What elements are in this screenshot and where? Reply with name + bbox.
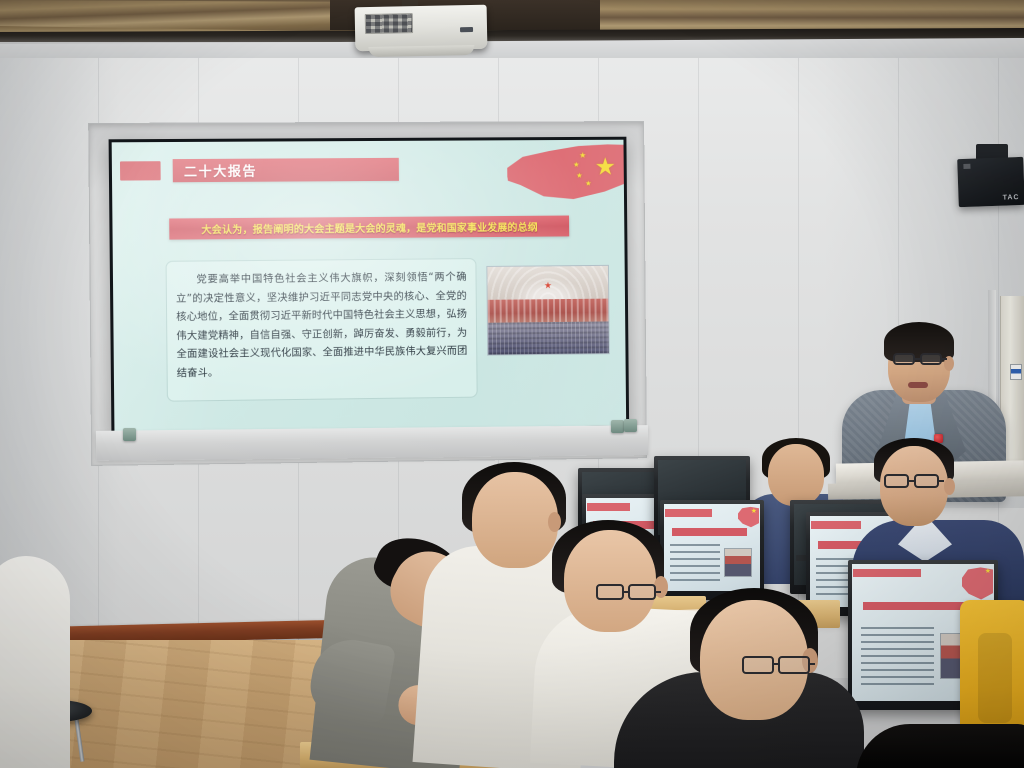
ledge-object [611, 420, 624, 433]
slide-title-bar: 二十大报告 [173, 158, 399, 182]
cabinet-sign-icon [1010, 364, 1022, 380]
slide-photo-great-hall: ★ [486, 265, 609, 356]
wall-speaker: TAC [957, 157, 1024, 207]
ledge-object [123, 428, 136, 441]
slide-title: 二十大报告 [184, 161, 257, 181]
slide-body-text: 党要高举中国特色社会主义伟大旗帜，深刻领悟“两个确立”的决定性意义，坚决维护习近… [176, 269, 468, 384]
speaker-port-icon [963, 164, 970, 169]
projector-vent-icon [365, 13, 413, 34]
glasses-icon [628, 584, 656, 600]
chinese-flag-icon: ★ ★ ★ ★ ★ [507, 140, 624, 218]
glasses-icon [920, 353, 942, 365]
projection-screen[interactable]: ★ ★ ★ ★ ★ 二十大报告 大会认为，报告阐明的大会主题是大会的灵魂，是党和… [109, 137, 630, 436]
slide-body-textbox: 党要高举中国特色社会主义伟大旗帜，深刻领悟“两个确立”的决定性意义，坚决维护习近… [166, 258, 478, 402]
glasses-icon [884, 474, 909, 488]
screen-ledge [96, 425, 648, 461]
ledge-object [624, 419, 637, 432]
glasses-icon [596, 584, 624, 600]
slide-title-accent-block [120, 161, 161, 180]
slide-headline-banner: 大会认为，报告阐明的大会主题是大会的灵魂，是党和国家事业发展的总纲 [169, 216, 569, 240]
ceiling-projector [355, 5, 488, 52]
student-monitor[interactable] [660, 500, 764, 600]
glasses-icon [778, 656, 810, 674]
glasses-icon [893, 353, 915, 365]
foreground-head-corner [856, 724, 1024, 768]
classroom-scene: ★ ★ ★ ★ ★ 二十大报告 大会认为，报告阐明的大会主题是大会的灵魂，是党和… [0, 0, 1024, 768]
projector-led-icon [460, 27, 473, 32]
instructor-mouth [908, 382, 928, 388]
slide-banner-text: 大会认为，报告阐明的大会主题是大会的灵魂，是党和国家事业发展的总纲 [201, 219, 538, 237]
glasses-icon [742, 656, 774, 674]
glasses-icon [914, 474, 939, 488]
presentation-slide: ★ ★ ★ ★ ★ 二十大报告 大会认为，报告阐明的大会主题是大会的灵魂，是党和… [112, 140, 627, 433]
speaker-brand-label: TAC [1003, 194, 1020, 202]
foreground-person-left [0, 556, 70, 768]
